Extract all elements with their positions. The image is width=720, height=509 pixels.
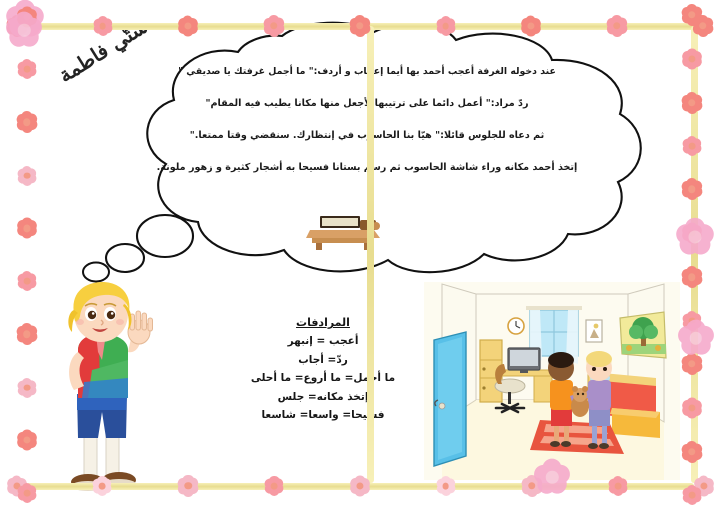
vocabulary-item-2: ردّ= أجاب xyxy=(228,354,418,366)
flower-icon xyxy=(682,397,703,418)
flower-icon xyxy=(681,441,703,463)
flower-icon xyxy=(681,266,703,288)
border-bottom xyxy=(6,465,714,507)
flower-icon xyxy=(677,320,714,357)
vocabulary-item-4: إتخذ مكانه= جلس xyxy=(228,391,418,403)
flower-icon xyxy=(608,476,628,496)
bedroom-scene-illustration xyxy=(424,282,680,480)
flower-icon xyxy=(263,15,285,37)
flower-icon xyxy=(681,92,703,114)
flower-icon xyxy=(349,15,371,37)
flower-icon xyxy=(16,323,38,345)
flower-icon xyxy=(676,218,715,257)
flower-icon xyxy=(17,59,37,79)
flower-icon xyxy=(17,271,37,291)
flower-icon xyxy=(16,111,38,133)
flower-icon xyxy=(534,459,571,496)
flower-icon xyxy=(17,166,37,186)
vocabulary-list: المرادفات أعجب = إنبهر ردّ= أجاب ما أجمل… xyxy=(228,316,418,428)
flower-icon xyxy=(177,16,198,37)
flower-icon xyxy=(436,476,456,496)
flower-icon xyxy=(606,15,628,37)
flower-icon xyxy=(682,48,703,69)
border-left xyxy=(6,6,48,503)
border-right xyxy=(668,4,716,505)
vocabulary-title: المرادفات xyxy=(228,316,418,329)
vocabulary-item-3: ما أجمل= ما أروع= ما أحلى xyxy=(228,372,418,384)
flower-icon xyxy=(264,476,284,496)
ribbon-left xyxy=(367,26,374,483)
flower-icon xyxy=(682,485,702,505)
flower-icon xyxy=(92,476,112,496)
flower-icon xyxy=(682,136,702,156)
flower-icon xyxy=(177,475,199,497)
flower-icon xyxy=(17,430,38,451)
vocabulary-item-5: فسيحا= واسعا= شاسعا xyxy=(228,409,418,421)
flower-icon xyxy=(17,218,38,239)
vocabulary-item-1: أعجب = إنبهر xyxy=(228,335,418,347)
flower-icon xyxy=(17,378,37,398)
flower-icon xyxy=(436,16,456,36)
border-top xyxy=(6,6,714,46)
flower-icon xyxy=(350,476,371,497)
flower-icon xyxy=(17,483,37,503)
flower-icon xyxy=(681,4,703,26)
flower-icon xyxy=(6,12,43,49)
flower-icon xyxy=(93,16,113,36)
flower-icon xyxy=(520,16,541,37)
worksheet-page: عند دخوله الغرفة أعجب أحمد بها أيما إعجا… xyxy=(0,0,720,509)
flower-icon xyxy=(681,178,703,200)
